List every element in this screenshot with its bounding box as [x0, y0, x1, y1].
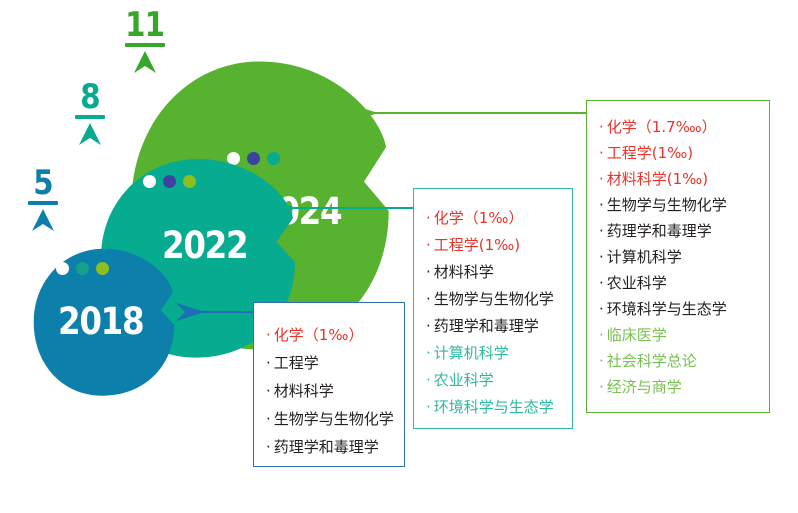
blob-2018: 2018 [33, 248, 175, 396]
blob-2018-dot-1 [56, 262, 69, 275]
list-item[interactable]: ·工程学(1‰) [426, 232, 572, 259]
counter-2022-value: 8 [77, 82, 103, 112]
panel-2018-list: ·化学（1‰）·工程学·材料科学·生物学与生物化学·药理学和毒理学 [253, 302, 405, 467]
list-item-label: 工程学(1‰) [434, 232, 520, 259]
bullet-icon: · [266, 349, 271, 377]
list-item[interactable]: ·计算机科学 [599, 244, 769, 270]
panel-2024-list-items: ·化学（1.7‱）·工程学(1‰)·材料科学(1‰)·生物学与生物化学·药理学和… [587, 101, 769, 400]
list-item[interactable]: ·农业科学 [599, 270, 769, 296]
counter-2018-value: 5 [30, 168, 56, 198]
list-item-label: 工程学(1‰) [607, 140, 693, 166]
list-item[interactable]: ·材料科学 [266, 377, 404, 405]
bullet-icon: · [599, 348, 604, 374]
connector-2024 [349, 102, 609, 124]
list-item[interactable]: ·化学（1‰） [266, 321, 404, 349]
bullet-icon: · [599, 244, 604, 270]
list-item-label: 计算机科学 [434, 340, 509, 367]
list-item-label: 材料科学 [434, 259, 494, 286]
list-item[interactable]: ·临床医学 [599, 322, 769, 348]
bullet-icon: · [426, 232, 431, 259]
list-item[interactable]: ·环境科学与生态学 [426, 394, 572, 421]
list-item-label: 农业科学 [607, 270, 667, 296]
list-item-label: 药理学和毒理学 [434, 313, 539, 340]
list-item[interactable]: ·环境科学与生态学 [599, 296, 769, 322]
bullet-icon: · [599, 114, 604, 140]
blob-2018-year-label: 2018 [58, 300, 143, 343]
panel-2022-list: ·化学（1‰）·工程学(1‰)·材料科学·生物学与生物化学·药理学和毒理学·计算… [413, 188, 573, 429]
counter-2022-up-arrow-icon [75, 121, 105, 152]
list-item-label: 生物学与生物化学 [607, 192, 727, 218]
list-item[interactable]: ·计算机科学 [426, 340, 572, 367]
bullet-icon: · [426, 340, 431, 367]
bullet-icon: · [599, 270, 604, 296]
list-item[interactable]: ·经济与商学 [599, 374, 769, 400]
bullet-icon: · [599, 374, 604, 400]
list-item-label: 社会科学总论 [607, 348, 697, 374]
list-item[interactable]: ·材料科学 [426, 259, 572, 286]
list-item-label: 计算机科学 [607, 244, 682, 270]
bullet-icon: · [426, 286, 431, 313]
bullet-icon: · [266, 405, 271, 433]
list-item-label: 生物学与生物化学 [434, 286, 554, 313]
list-item-label: 化学（1.7‱） [607, 114, 717, 140]
list-item-label: 环境科学与生态学 [434, 394, 554, 421]
list-item[interactable]: ·药理学和毒理学 [426, 313, 572, 340]
infographic-canvas: 5811202420222018·化学（1‰）·工程学·材料科学·生物学与生物化… [0, 0, 798, 513]
blob-2022-status-dots [143, 175, 196, 188]
list-item[interactable]: ·农业科学 [426, 367, 572, 394]
blob-2018-dot-3 [96, 262, 109, 275]
list-item-label: 药理学和毒理学 [274, 433, 379, 461]
list-item[interactable]: ·药理学和毒理学 [266, 433, 404, 461]
bullet-icon: · [426, 259, 431, 286]
list-item[interactable]: ·生物学与生物化学 [266, 405, 404, 433]
bullet-icon: · [426, 313, 431, 340]
bullet-icon: · [599, 140, 604, 166]
list-item-label: 化学（1‰） [434, 205, 524, 232]
bullet-icon: · [426, 394, 431, 421]
list-item-label: 经济与商学 [607, 374, 682, 400]
bullet-icon: · [599, 192, 604, 218]
blob-2022-dot-1 [143, 175, 156, 188]
list-item[interactable]: ·化学（1.7‱） [599, 114, 769, 140]
list-item[interactable]: ·工程学 [266, 349, 404, 377]
bullet-icon: · [599, 296, 604, 322]
bullet-icon: · [599, 322, 604, 348]
bullet-icon: · [599, 218, 604, 244]
list-item-label: 临床医学 [607, 322, 667, 348]
list-item[interactable]: ·社会科学总论 [599, 348, 769, 374]
list-item[interactable]: ·工程学(1‰) [599, 140, 769, 166]
list-item-label: 化学（1‰） [274, 321, 364, 349]
blob-2018-status-dots [56, 262, 109, 275]
list-item-label: 工程学 [274, 349, 319, 377]
blob-2022-dot-3 [183, 175, 196, 188]
bullet-icon: · [426, 367, 431, 394]
list-item-label: 药理学和毒理学 [607, 218, 712, 244]
blob-2022-dot-2 [163, 175, 176, 188]
panel-2024-list: ·化学（1.7‱）·工程学(1‰)·材料科学(1‰)·生物学与生物化学·药理学和… [586, 100, 770, 413]
bullet-icon: · [426, 205, 431, 232]
list-item[interactable]: ·材料科学(1‰) [599, 166, 769, 192]
bullet-icon: · [599, 166, 604, 192]
counter-2022: 8 [75, 82, 105, 152]
blob-2018-dot-2 [76, 262, 89, 275]
counter-2018: 5 [28, 168, 58, 238]
panel-2018-list-items: ·化学（1‰）·工程学·材料科学·生物学与生物化学·药理学和毒理学 [254, 303, 404, 461]
list-item[interactable]: ·化学（1‰） [426, 205, 572, 232]
bullet-icon: · [266, 321, 271, 349]
list-item-label: 材料科学(1‰) [607, 166, 708, 192]
list-item[interactable]: ·药理学和毒理学 [599, 218, 769, 244]
list-item[interactable]: ·生物学与生物化学 [426, 286, 572, 313]
list-item-label: 生物学与生物化学 [274, 405, 394, 433]
list-item-label: 环境科学与生态学 [607, 296, 727, 322]
panel-2022-list-items: ·化学（1‰）·工程学(1‰)·材料科学·生物学与生物化学·药理学和毒理学·计算… [414, 189, 572, 421]
list-item[interactable]: ·生物学与生物化学 [599, 192, 769, 218]
connector-2024-line [375, 112, 607, 114]
list-item-label: 材料科学 [274, 377, 334, 405]
counter-2024-value: 11 [125, 10, 164, 40]
bullet-icon: · [266, 377, 271, 405]
list-item-label: 农业科学 [434, 367, 494, 394]
counter-2018-up-arrow-icon [28, 207, 58, 238]
bullet-icon: · [266, 433, 271, 461]
